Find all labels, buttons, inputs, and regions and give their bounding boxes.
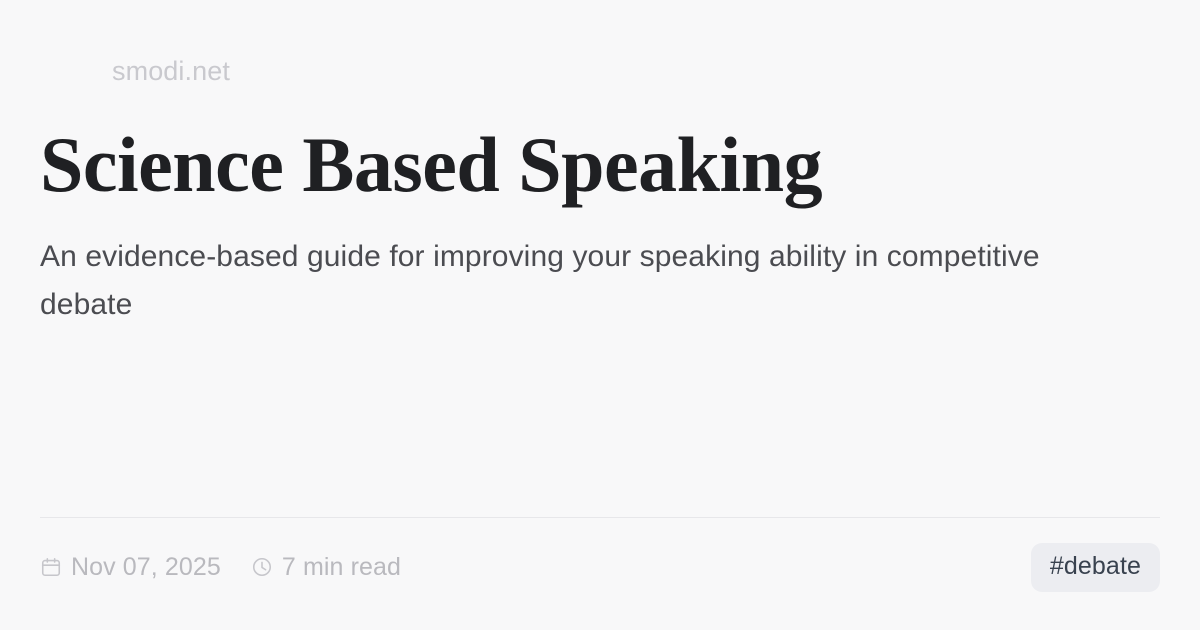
- footer: Nov 07, 2025 7 min read #debate: [40, 544, 1160, 590]
- site-name: smodi.net: [112, 58, 230, 85]
- title-block: Science Based Speaking: [40, 124, 1160, 207]
- layout-spacer: [40, 330, 1160, 517]
- page-title: Science Based Speaking: [40, 124, 1160, 207]
- read-time: 7 min read: [282, 555, 401, 580]
- calendar-icon: [40, 556, 62, 578]
- meta-group: Nov 07, 2025 7 min read: [40, 555, 401, 580]
- publish-date: Nov 07, 2025: [71, 555, 221, 580]
- status-badge[interactable]: #debate: [1031, 543, 1160, 592]
- clock-icon: [251, 556, 273, 578]
- page-subtitle: An evidence-based guide for improving yo…: [40, 233, 1060, 330]
- footer-divider: [40, 517, 1160, 518]
- meta-item-date: Nov 07, 2025: [40, 555, 221, 580]
- site-name-row: smodi.net: [40, 40, 1160, 102]
- article-preview-card: smodi.net Science Based Speaking An evid…: [0, 0, 1200, 630]
- meta-item-read-time: 7 min read: [251, 555, 401, 580]
- subtitle-block: An evidence-based guide for improving yo…: [40, 233, 1060, 330]
